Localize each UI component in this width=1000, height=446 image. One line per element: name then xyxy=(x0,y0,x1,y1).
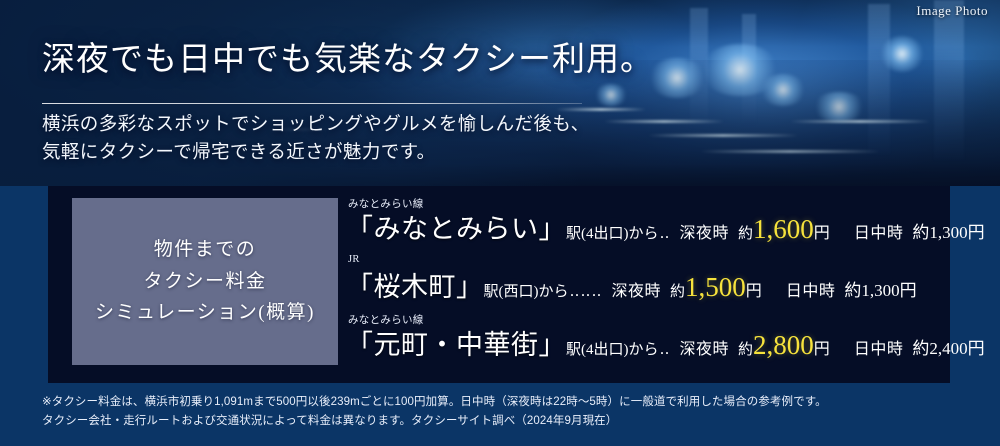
station-name: 「みなとみらい」 xyxy=(346,207,566,246)
approx-prefix-night: 約 xyxy=(729,338,753,359)
headline-divider xyxy=(42,103,582,104)
approx-prefix-night: 約 xyxy=(661,280,685,301)
fare-row: JR 「桜木町」 駅(西口)から ‥‥‥ 深夜時 約 1,500 円 日中時 約… xyxy=(346,250,944,308)
day-time-label: 日中時 xyxy=(832,219,904,243)
simulation-title-line-3: シミュレーション(概算) xyxy=(95,302,315,323)
night-fare-price: 2,800 xyxy=(753,330,814,361)
leader-dots: ‥ xyxy=(659,224,671,243)
simulation-title-line-2: タクシー料金 xyxy=(143,271,266,292)
subtitle-line-1: 横浜の多彩なスポットでショッピングやグルメを愉しんだ後も、 xyxy=(42,115,590,135)
fare-row-content: 「桜木町」 駅(西口)から ‥‥‥ 深夜時 約 1,500 円 日中時 約1,3… xyxy=(346,265,917,304)
yen-unit-night: 円 xyxy=(814,335,832,359)
leader-dots: ‥‥‥ xyxy=(569,282,603,301)
fare-row-content: 「みなとみらい」 駅(4出口)から ‥ 深夜時 約 1,600 円 日中時 約1… xyxy=(346,207,985,246)
simulation-title-box: 物件までの タクシー料金 シミュレーション(概算) xyxy=(72,198,338,365)
station-name: 「元町・中華街」 xyxy=(346,323,566,362)
night-fare-price: 1,500 xyxy=(685,272,746,303)
fare-row: みなとみらい線 「みなとみらい」 駅(4出口)から ‥ 深夜時 約 1,600 … xyxy=(346,192,944,250)
fare-row: みなとみらい線 「元町・中華街」 駅(4出口)から ‥ 深夜時 約 2,800 … xyxy=(346,308,944,366)
leader-dots: ‥ xyxy=(659,340,671,359)
footnote-line-1: ※タクシー料金は、横浜市初乗り1,091mまで500円以後239mごとに100円… xyxy=(42,396,827,408)
yen-unit-night: 円 xyxy=(746,277,764,301)
day-fare-price: 約2,400円 xyxy=(903,334,984,359)
night-time-label: 深夜時 xyxy=(671,335,730,359)
promo-banner: Image Photo 深夜でも日中でも気楽なタクシー利用。 横浜の多彩なスポッ… xyxy=(0,0,1000,446)
yen-unit-night: 円 xyxy=(814,219,832,243)
station-exit: 駅(西口)から xyxy=(484,280,569,301)
subtitle-line-2: 気軽にタクシーで帰宅できる近さが魅力です。 xyxy=(42,143,436,163)
page-subtitle: 横浜の多彩なスポットでショッピングやグルメを愉しんだ後も、 気軽にタクシーで帰宅… xyxy=(42,112,590,168)
simulation-title-text: 物件までの タクシー料金 シミュレーション(概算) xyxy=(95,234,315,328)
fare-row-list: みなとみらい線 「みなとみらい」 駅(4出口)から ‥ 深夜時 約 1,600 … xyxy=(346,192,944,379)
night-time-label: 深夜時 xyxy=(671,219,730,243)
page-title: 深夜でも日中でも気楽なタクシー利用。 xyxy=(42,42,654,78)
fare-simulation-panel: 物件までの タクシー料金 シミュレーション(概算) みなとみらい線 「みなとみら… xyxy=(48,186,950,383)
night-time-label: 深夜時 xyxy=(603,277,662,301)
simulation-title-line-1: 物件までの xyxy=(154,239,257,260)
station-exit: 駅(4出口)から xyxy=(566,338,659,359)
footnote: ※タクシー料金は、横浜市初乗り1,091mまで500円以後239mごとに100円… xyxy=(42,393,827,430)
day-time-label: 日中時 xyxy=(832,335,904,359)
footnote-line-2: タクシー会社・走行ルートおよび交通状況によって料金は異なります。タクシーサイト調… xyxy=(42,415,617,427)
image-photo-label: Image Photo xyxy=(916,3,988,19)
night-fare-price: 1,600 xyxy=(753,214,814,245)
approx-prefix-night: 約 xyxy=(729,222,753,243)
day-time-label: 日中時 xyxy=(764,277,836,301)
station-name: 「桜木町」 xyxy=(346,265,484,304)
day-fare-price: 約1,300円 xyxy=(835,276,916,301)
day-fare-price: 約1,300円 xyxy=(903,218,984,243)
station-exit: 駅(4出口)から xyxy=(566,222,659,243)
railway-line-label: JR xyxy=(348,254,360,265)
fare-row-content: 「元町・中華街」 駅(4出口)から ‥ 深夜時 約 2,800 円 日中時 約2… xyxy=(346,323,985,362)
